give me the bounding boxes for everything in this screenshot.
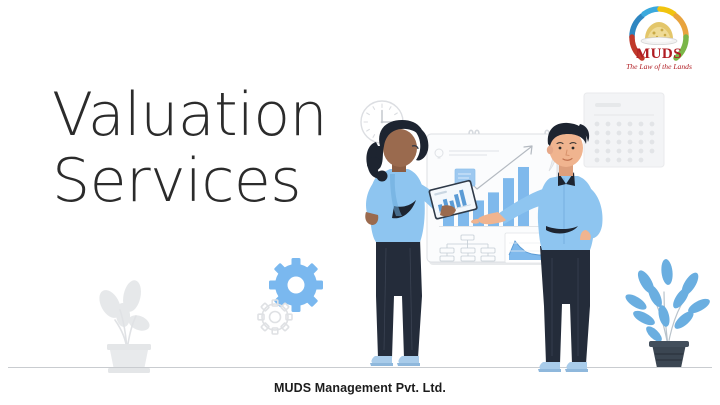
footer-caption: MUDS Management Pvt. Ltd. [0,381,720,395]
muds-logo: MUDS The Law of the Lands [612,4,712,76]
logo-wordmark: MUDS [636,46,682,62]
woman-with-tablet [365,120,478,366]
page-title: Valuation Services [52,82,382,214]
slide-canvas: Valuation Services MUDS Management Pvt. … [0,0,720,405]
man-pointing-at-chart [471,123,603,372]
title-line-2: Services [52,148,382,214]
potted-plant-left [90,278,168,373]
gears-icon [252,255,332,337]
title-line-1: Valuation [52,82,382,148]
logo-tagline: The Law of the Lands [626,62,692,71]
two-people-presenting-chart [350,120,650,382]
